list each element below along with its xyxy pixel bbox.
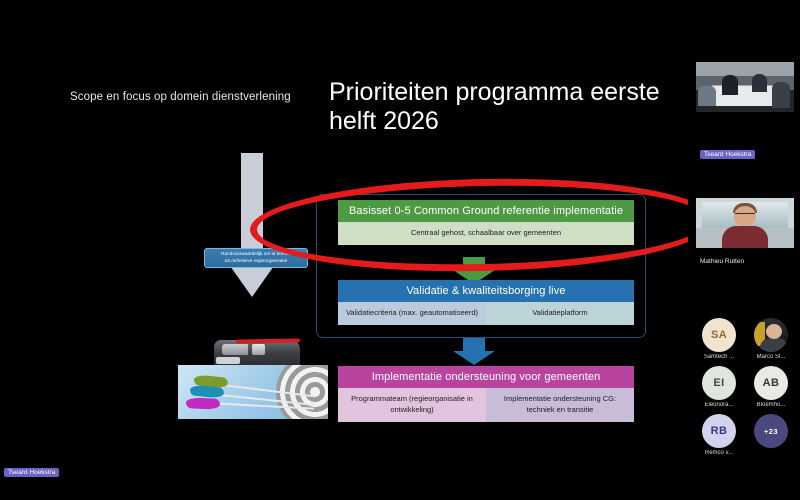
slide-scope-text: Scope en focus op domein dienstverlening	[70, 91, 320, 103]
avatar-label: Marco Sl...	[748, 354, 794, 360]
box-basisset-header: Basisset 0-5 Common Ground referentie im…	[338, 200, 634, 222]
avatar-cell-remco[interactable]: RB Remco v...	[696, 414, 742, 456]
box-validatie: Validatie & kwaliteitsborging live Valid…	[338, 280, 634, 325]
overflow-participants-badge[interactable]: +23	[754, 414, 788, 448]
avatar-initials: EI	[713, 377, 724, 389]
avatar-initials: AB	[763, 377, 780, 389]
avatar-initials: RB	[711, 425, 728, 437]
video-feed-conference-room	[696, 62, 794, 112]
box-implementatie-sub-2: Implementatie ondersteuning CG: techniek…	[486, 388, 634, 422]
video-tile-name-badge: Tseard Hoekstra	[700, 151, 755, 158]
avatar-cell-eleonora[interactable]: EI Eleonora...	[696, 366, 742, 408]
avatar	[754, 318, 788, 352]
video-feed-mathieu	[696, 198, 794, 248]
self-name-badge: Tseard Hoekstra	[4, 461, 59, 479]
avatar-initials: SA	[711, 329, 727, 341]
avatar: EI	[702, 366, 736, 400]
avatar: AB	[754, 366, 788, 400]
participant-rail[interactable]: Tseard Hoekstra Mathieu Rutten SA Samtec…	[688, 0, 800, 500]
slide-title: Prioriteiten programma eerste helft 2026	[329, 78, 669, 136]
shared-screen-stage[interactable]: Scope en focus op domein dienstverlening…	[0, 0, 688, 500]
avatar-label: Eleonora...	[696, 402, 742, 408]
box-implementatie: Implementatie ondersteuning voor gemeent…	[338, 366, 634, 422]
avatar-label: Samtech ...	[696, 354, 742, 360]
box-basisset: Basisset 0-5 Common Ground referentie im…	[338, 200, 634, 245]
arrows-target-image	[178, 365, 328, 419]
video-tile-mathieu-rutten[interactable]: Mathieu Rutten	[696, 198, 794, 248]
overflow-count: +23	[764, 427, 778, 436]
avatar-label: Bloemho...	[748, 402, 794, 408]
callout-line-2: tot definitieve regieorganisatie	[208, 258, 304, 265]
avatar-cell-marco[interactable]: Marco Sl...	[748, 318, 794, 360]
box-implementatie-header: Implementatie ondersteuning voor gemeent…	[338, 366, 634, 388]
avatar: RB	[702, 414, 736, 448]
self-name-badge-label: Tseard Hoekstra	[4, 468, 59, 477]
meeting-window: Scope en focus op domein dienstverlening…	[0, 0, 800, 500]
callout-line-1: Randvoorwaardelijk om te komen	[208, 251, 304, 258]
box-basisset-sub-1: Centraal gehost, schaalbaar over gemeent…	[338, 222, 634, 245]
box-validatie-sub-1: Validatiecriteria (max. geautomatiseerd)	[338, 302, 486, 325]
video-tile-name-label: Mathieu Rutten	[700, 258, 744, 265]
box-implementatie-sub-1: Programmateam (regieorganisatie in ontwi…	[338, 388, 486, 422]
avatar-cell-samtech[interactable]: SA Samtech ...	[696, 318, 742, 360]
grey-down-arrow-icon	[228, 153, 276, 298]
avatar-cell-bloemho[interactable]: AB Bloemho...	[748, 366, 794, 408]
avatar-label: Remco v...	[696, 450, 742, 456]
avatar-cell-overflow[interactable]: +23	[748, 414, 794, 448]
avatar: SA	[702, 318, 736, 352]
callout-randvoorwaardelijk: Randvoorwaardelijk om te komen tot defin…	[204, 248, 308, 268]
box-validatie-header: Validatie & kwaliteitsborging live	[338, 280, 634, 302]
video-tile-tseard-hoekstra[interactable]: Tseard Hoekstra	[696, 62, 794, 112]
box-validatie-sub-2: Validatieplatform	[486, 302, 634, 325]
presentation-slide: Scope en focus op domein dienstverlening…	[12, 48, 688, 452]
